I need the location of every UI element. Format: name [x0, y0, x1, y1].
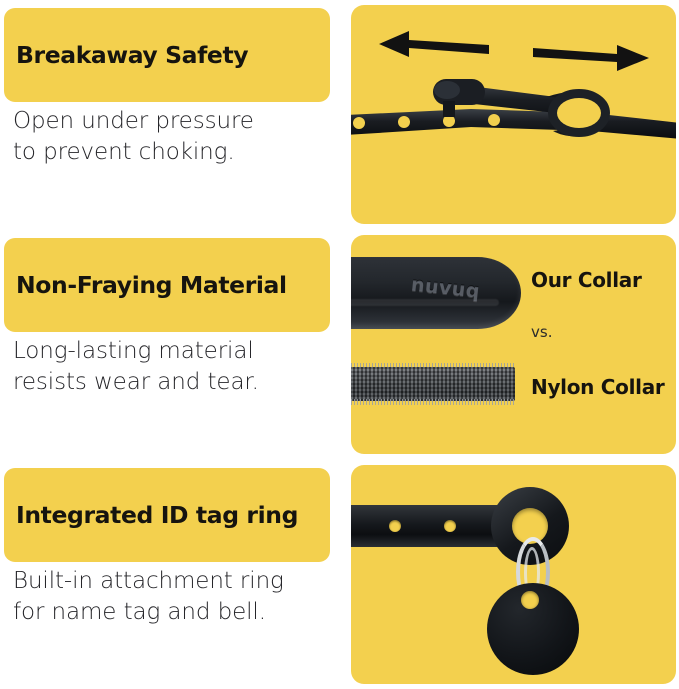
nylon-weave-texture [351, 367, 515, 401]
heading-label: Breakaway Safety [16, 41, 248, 69]
feature-row-integrated-id-tag-ring: Integrated ID tag ring Built-in attachme… [0, 460, 679, 689]
heading-chip-non-fraying-material: Non-Fraying Material [4, 238, 330, 332]
feature-description: Open under pressure to prevent choking. [13, 106, 338, 168]
heading-label: Integrated ID tag ring [16, 501, 298, 529]
description-line-2: for name tag and bell. [13, 597, 338, 628]
strap-hole [389, 520, 401, 532]
nylon-fray-bottom [351, 399, 515, 405]
comparison-label-our-collar: Our Collar [531, 268, 642, 292]
description-line-1: Built-in attachment ring [13, 566, 338, 597]
comparison-label-vs: vs. [531, 323, 552, 341]
product-feature-infographic: Breakaway Safety Open under pressure to … [0, 0, 679, 689]
feature-image-breakaway-buckle [351, 5, 676, 224]
nylon-collar-sample [351, 363, 515, 405]
feature-description: Long-lasting material resists wear and t… [13, 336, 338, 398]
heading-chip-breakaway-safety: Breakaway Safety [4, 8, 330, 102]
feature-text-column: Integrated ID tag ring Built-in attachme… [0, 460, 340, 689]
breakaway-collar-illustration [351, 5, 676, 224]
feature-row-non-fraying-material: Non-Fraying Material Long-lasting materi… [0, 230, 679, 459]
feature-description: Built-in attachment ring for name tag an… [13, 566, 338, 628]
feature-image-id-tag-ring [351, 465, 676, 684]
description-line-1: Open under pressure [13, 106, 338, 137]
description-line-1: Long-lasting material [13, 336, 338, 367]
silicone-collar-sample: nuvuq [351, 257, 521, 329]
description-line-2: to prevent choking. [13, 137, 338, 168]
id-tag-disc [487, 583, 579, 675]
feature-text-column: Non-Fraying Material Long-lasting materi… [0, 230, 340, 459]
comparison-label-nylon-collar: Nylon Collar [531, 375, 664, 399]
feature-text-column: Breakaway Safety Open under pressure to … [0, 0, 340, 229]
heading-label: Non-Fraying Material [16, 271, 287, 299]
feature-image-material-comparison: nuvuq Our Collar vs. Nylon Collar [351, 235, 676, 454]
heading-chip-integrated-id-tag-ring: Integrated ID tag ring [4, 468, 330, 562]
description-line-2: resists wear and tear. [13, 367, 338, 398]
feature-row-breakaway-safety: Breakaway Safety Open under pressure to … [0, 0, 679, 229]
strap-hole [444, 520, 456, 532]
